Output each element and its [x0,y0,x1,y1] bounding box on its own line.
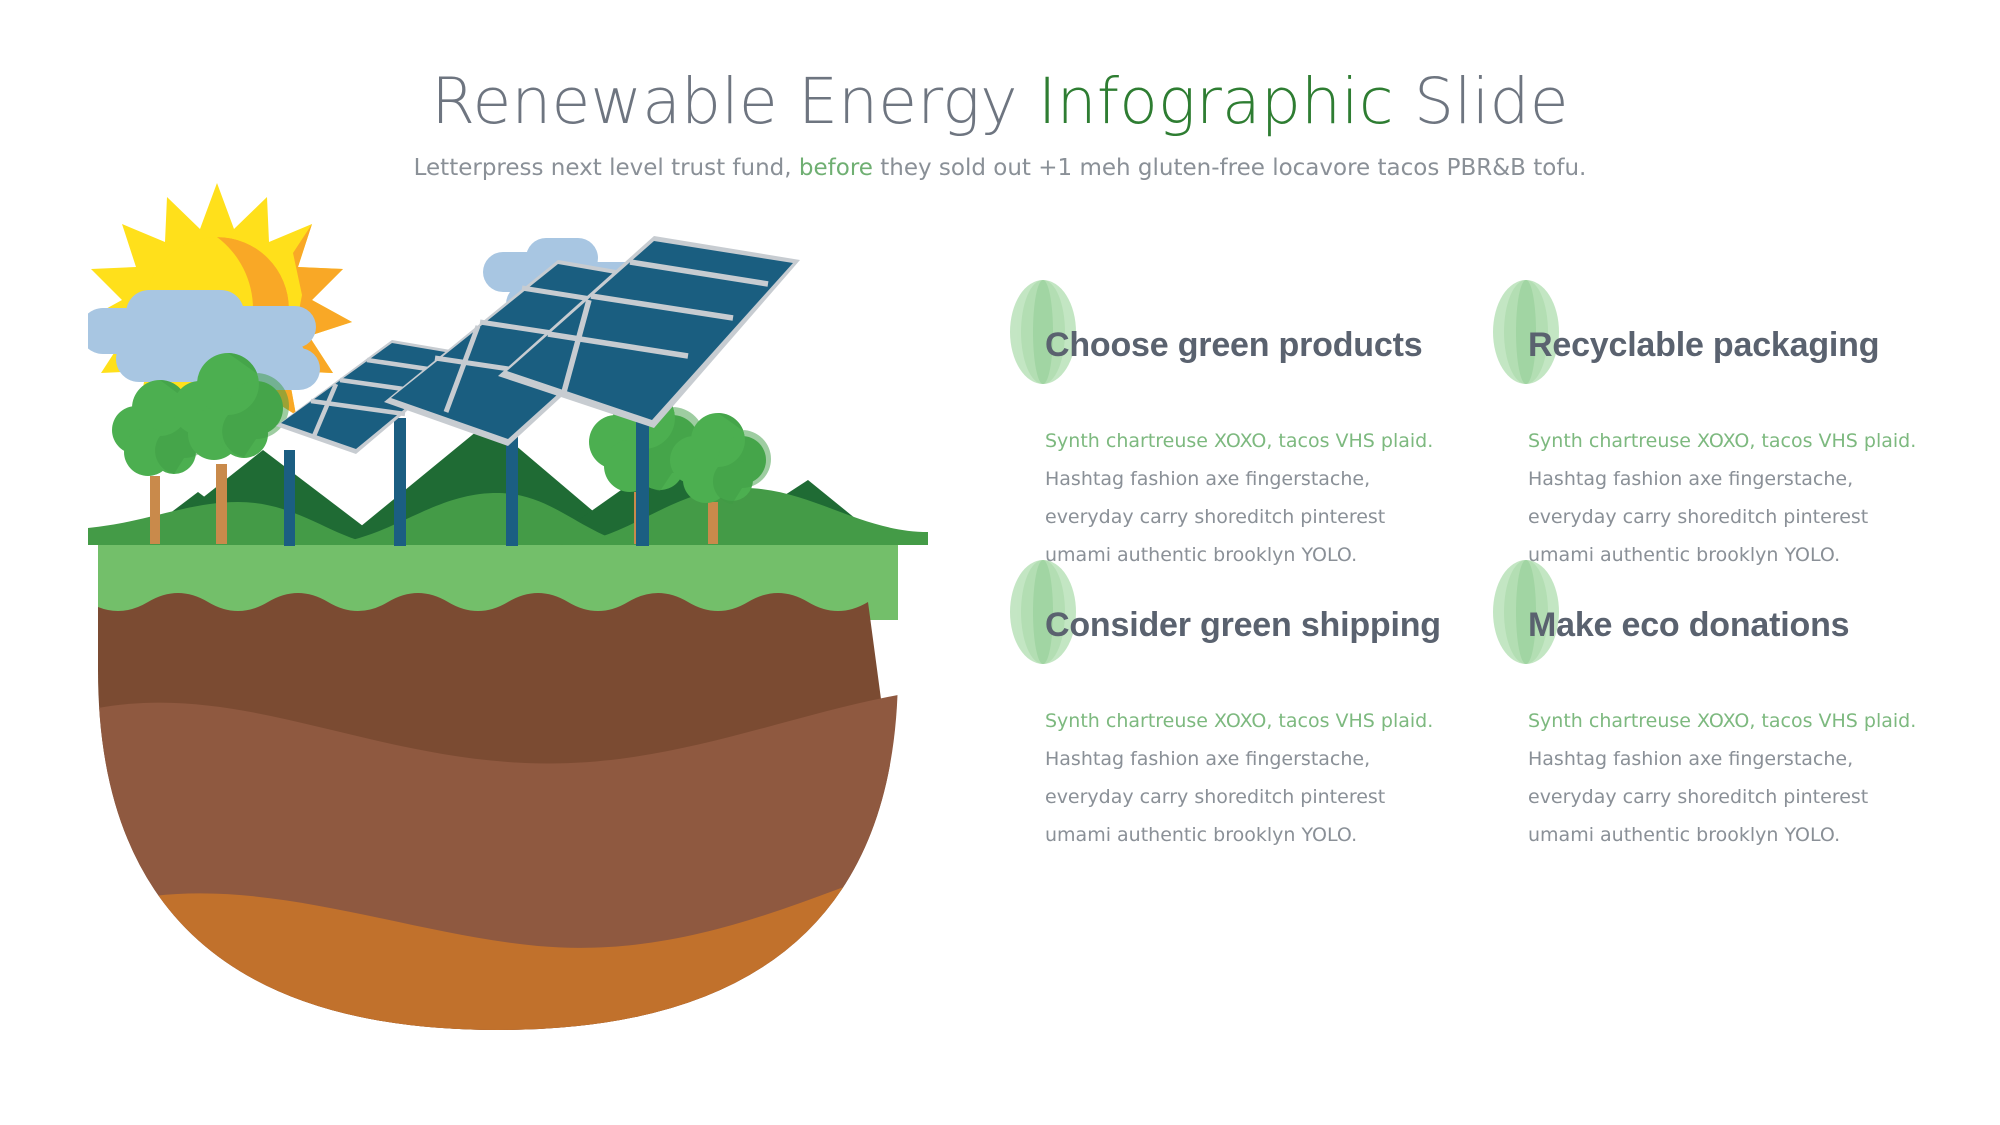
feature-line: Hashtag fashion axe fingerstache, [1528,460,1978,498]
title-accent-word: Infographic [1038,65,1394,138]
feature-line: everyday carry shoreditch pinterest [1528,498,1978,536]
feature-line: Hashtag fashion axe fingerstache, [1045,740,1495,778]
feature-body: Synth chartreuse XOXO, tacos VHS plaid. … [1045,422,1495,574]
feature-line: everyday carry shoreditch pinterest [1045,498,1495,536]
feature-line: Synth chartreuse XOXO, tacos VHS plaid. [1045,702,1495,740]
feature-line: umami authentic brooklyn YOLO. [1045,816,1495,854]
feature-card[interactable]: Recyclable packaging Synth chartreuse XO… [1483,280,1983,398]
feature-card[interactable]: Choose green products Synth chartreuse X… [1000,280,1500,398]
feature-grid: Choose green products Synth chartreuse X… [1000,280,2000,980]
feature-line: Synth chartreuse XOXO, tacos VHS plaid. [1528,702,1978,740]
feature-header: Consider green shipping [1000,560,1500,678]
slide-canvas: Renewable Energy Infographic Slide Lette… [0,0,2000,1125]
feature-body: Synth chartreuse XOXO, tacos VHS plaid. … [1528,702,1978,854]
feature-title: Make eco donations [1528,606,1849,645]
renewable-energy-illustration [88,150,928,1050]
feature-body: Synth chartreuse XOXO, tacos VHS plaid. … [1045,702,1495,854]
title-part-2: Slide [1394,65,1569,138]
feature-header: Recyclable packaging [1483,280,1983,398]
feature-title: Choose green products [1045,326,1422,365]
feature-title: Consider green shipping [1045,606,1441,645]
feature-line: Synth chartreuse XOXO, tacos VHS plaid. [1045,422,1495,460]
feature-line: Hashtag fashion axe fingerstache, [1045,460,1495,498]
feature-card[interactable]: Make eco donations Synth chartreuse XOXO… [1483,560,1983,678]
page-title: Renewable Energy Infographic Slide [0,68,2000,136]
feature-line: umami authentic brooklyn YOLO. [1528,816,1978,854]
feature-line: Hashtag fashion axe fingerstache, [1528,740,1978,778]
feature-header: Choose green products [1000,280,1500,398]
feature-card[interactable]: Consider green shipping Synth chartreuse… [1000,560,1500,678]
feature-body: Synth chartreuse XOXO, tacos VHS plaid. … [1528,422,1978,574]
soil-cross-section [88,540,928,1050]
subtitle-part-2: they sold out +1 meh gluten-free locavor… [873,155,1586,181]
feature-line: everyday carry shoreditch pinterest [1045,778,1495,816]
feature-title: Recyclable packaging [1528,326,1879,365]
feature-line: everyday carry shoreditch pinterest [1528,778,1978,816]
feature-line: Synth chartreuse XOXO, tacos VHS plaid. [1528,422,1978,460]
feature-header: Make eco donations [1483,560,1983,678]
title-part-1: Renewable Energy [431,65,1038,138]
